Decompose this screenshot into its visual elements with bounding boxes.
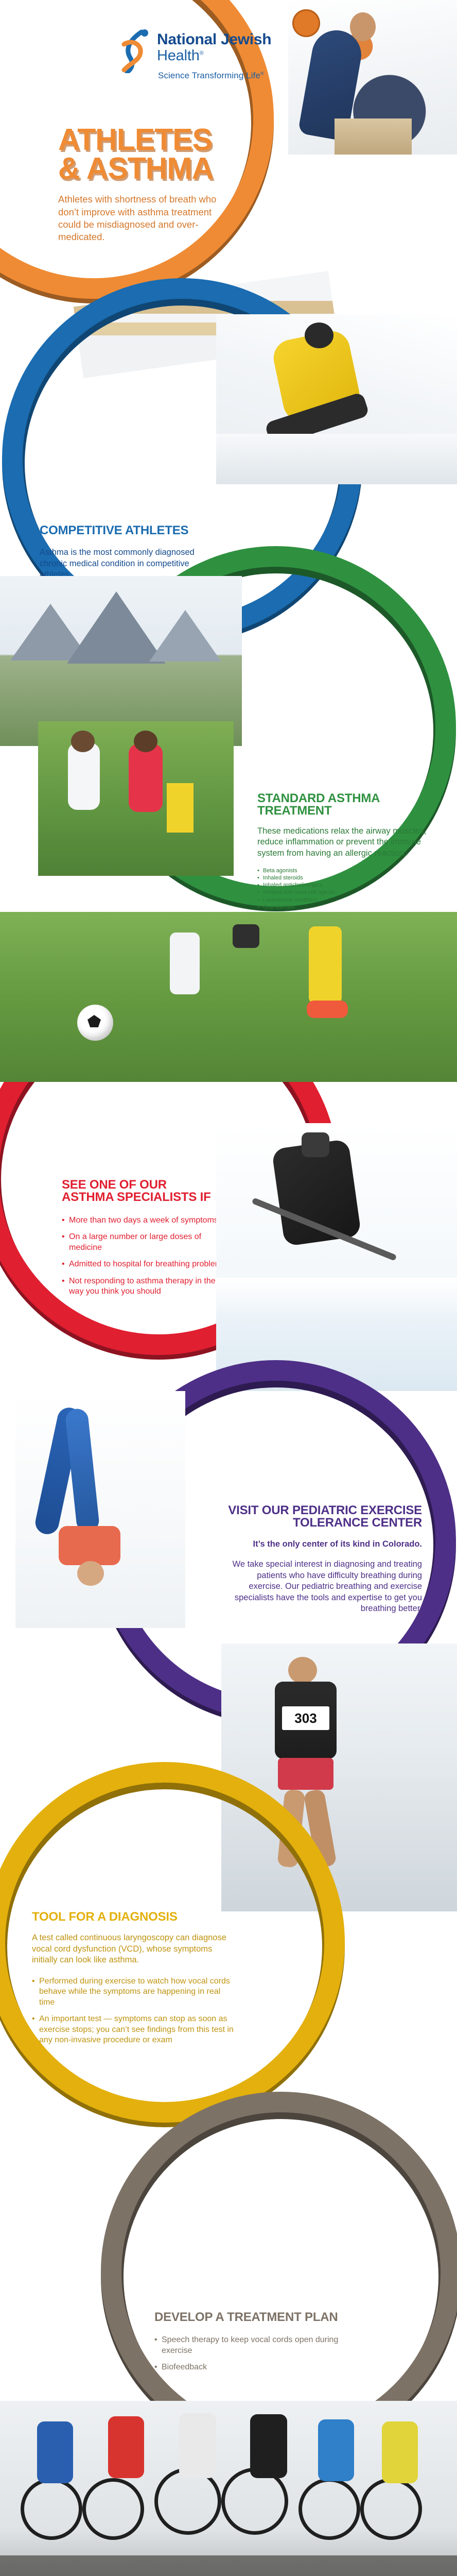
list-item: More than two days a week of symptoms	[62, 1215, 226, 1226]
section-develop-a-treatment-plan: DEVELOP A TREATMENT PLAN Speech therapy …	[154, 2311, 360, 2379]
section-heading: SEE ONE OF OUR ASTHMA SPECIALISTS IF	[62, 1179, 216, 1204]
pediatric-center-photo-gymnast	[15, 1391, 185, 1628]
logo-tagline: Science Transforming Life	[158, 71, 260, 80]
standard-treatment-photo-mountains	[0, 576, 242, 746]
hero-photo-basketball	[288, 0, 457, 155]
pediatric-center-photo-hockey	[216, 1123, 457, 1391]
see-specialist-photo-soccer-field	[0, 912, 457, 1082]
section-lead: It’s the only center of its kind in Colo…	[226, 1539, 422, 1550]
specialist-criteria-list: More than two days a week of symptoms On…	[62, 1215, 226, 1297]
runner-bib-number: 303	[282, 1706, 329, 1730]
section-heading: DEVELOP A TREATMENT PLAN	[154, 2311, 360, 2324]
list-item: Beta agonists	[257, 867, 427, 874]
treatment-plan-list: Speech therapy to keep vocal cords open …	[154, 2335, 360, 2372]
logo-line2: Health	[157, 47, 200, 64]
hero-title-line1: ATHLETES	[58, 125, 295, 154]
list-item: On a large number or large doses of medi…	[62, 1232, 226, 1253]
njh-logo-mark	[119, 29, 151, 73]
logo-tagline-mark: ®	[260, 71, 264, 76]
section-heading: STANDARD ASTHMA TREATMENT	[257, 792, 427, 818]
section-paragraph: These medications relax the airway muscl…	[257, 826, 427, 859]
competitive-athletes-photo-snowboarder	[216, 314, 457, 484]
section-tool-for-a-diagnosis: TOOL FOR A DIAGNOSIS A test called conti…	[32, 1911, 238, 2052]
section-heading: COMPETITIVE ATHLETES	[40, 524, 209, 537]
list-item: Speech therapy to keep vocal cords open …	[154, 2335, 360, 2356]
standard-treatment-photo-soccer-kids	[38, 721, 234, 876]
section-pediatric-exercise-tolerance-center: VISIT OUR PEDIATRIC EXERCISE TOLERANCE C…	[226, 1504, 422, 1615]
section-standard-asthma-treatment: STANDARD ASTHMA TREATMENT These medicati…	[257, 792, 427, 925]
list-item: An important test — symptoms can stop as…	[32, 2014, 238, 2045]
list-item: Oral steroids	[257, 904, 427, 911]
section-heading: VISIT OUR PEDIATRIC EXERCISE TOLERANCE C…	[226, 1504, 422, 1530]
section-heading: TOOL FOR A DIAGNOSIS	[32, 1911, 238, 1923]
treatment-plan-brown-ring	[101, 2092, 457, 2452]
hero-title-line2: & ASTHMA	[58, 154, 295, 183]
diagnosis-notes-list: Performed during exercise to watch how v…	[32, 1976, 238, 2046]
section-paragraph: A test called continuous laryngoscopy ca…	[32, 1933, 238, 1965]
list-item: Inhaled anti-mast cell agents	[257, 889, 427, 896]
section-paragraph: We take special interest in diagnosing a…	[226, 1559, 422, 1614]
list-item: Admitted to hospital for breathing probl…	[62, 1259, 226, 1269]
logo-registered-mark: ®	[200, 50, 204, 56]
list-item: Biofeedback	[154, 2362, 360, 2372]
logo-line1: National Jewish	[157, 31, 271, 48]
list-item: Inhaled anticholinergics	[257, 882, 427, 889]
hero-title-block: ATHLETES & ASTHMA Athletes with shortnes…	[58, 125, 295, 244]
section-see-asthma-specialist: SEE ONE OF OUR ASTHMA SPECIALISTS IF Mor…	[62, 1179, 226, 1303]
list-item: Leukotriene modifiers	[257, 896, 427, 904]
hero-subtitle: Athletes with shortness of breath who do…	[58, 193, 228, 244]
page-title: ATHLETES & ASTHMA	[58, 125, 295, 183]
treatment-plan-photo-cyclists	[0, 2401, 457, 2576]
list-item: Inhaled steroids	[257, 874, 427, 882]
list-item: Not responding to asthma therapy in the …	[62, 1276, 226, 1297]
header-logo: National Jewish Health® Science Transfor…	[119, 29, 271, 81]
list-item: Performed during exercise to watch how v…	[32, 1976, 238, 2008]
